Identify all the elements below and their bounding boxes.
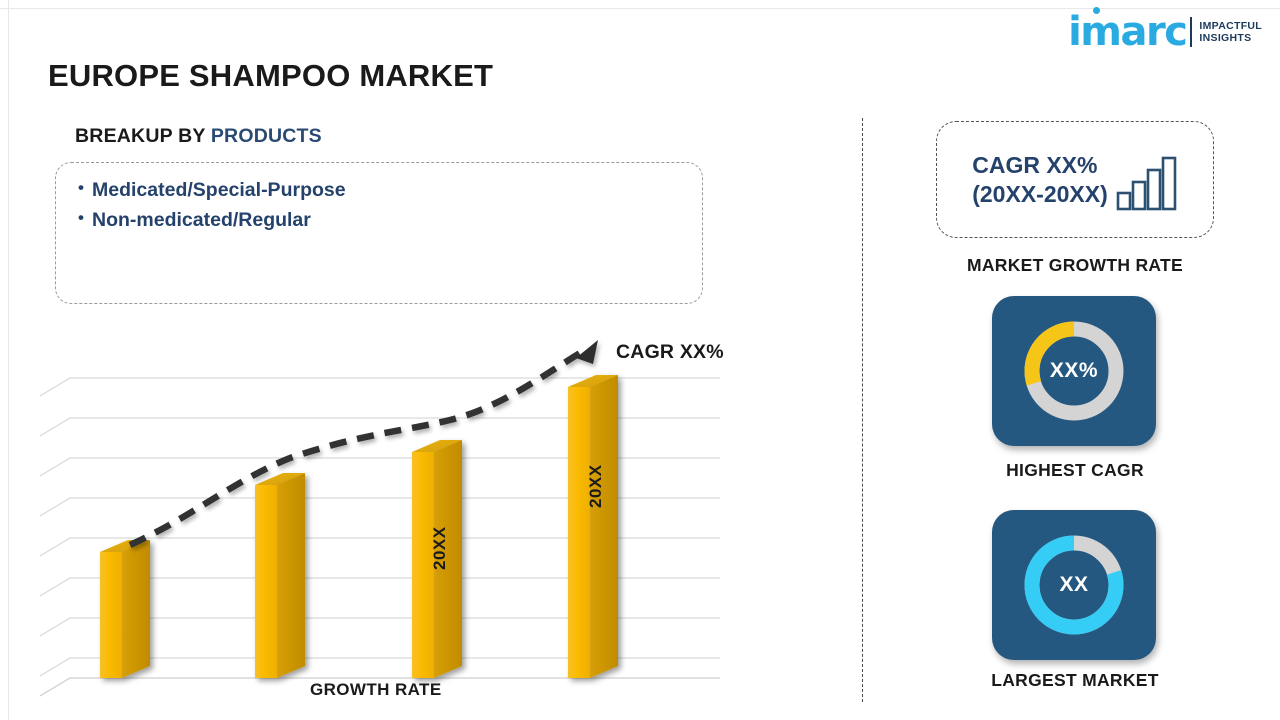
chart-cagr-label: CAGR XX%	[616, 341, 724, 364]
page-title: EUROPE SHAMPOO MARKET	[48, 58, 493, 94]
caption-highest-cagr: HIGHEST CAGR	[925, 460, 1225, 481]
chart-xlabel: GROWTH RATE	[310, 680, 442, 700]
logo-tagline-line2: INSIGHTS	[1199, 32, 1262, 44]
market-growth-box: CAGR XX% (20XX-20XX)	[936, 121, 1214, 238]
bar-column	[568, 375, 618, 678]
logo-divider	[1190, 17, 1192, 47]
imarc-logo: imarc IMPACTFUL INSIGHTS	[1068, 12, 1262, 52]
breakup-heading-key: PRODUCTS	[211, 125, 322, 147]
infographic-page: imarc IMPACTFUL INSIGHTS EUROPE SHAMPOO …	[0, 0, 1280, 720]
chart-canvas	[40, 330, 760, 700]
growth-bar-chart: 20XX 20XX	[40, 330, 760, 700]
logo-wordmark: imarc	[1068, 12, 1186, 52]
bar-column	[100, 540, 150, 678]
bar-chart-icon	[1116, 155, 1178, 211]
growth-box-line2: (20XX-20XX)	[972, 180, 1108, 208]
list-item: Non-medicated/Regular	[78, 206, 702, 236]
largest-market-tile: XX	[992, 510, 1156, 660]
highest-cagr-tile: XX%	[992, 296, 1156, 446]
frame-left-line	[8, 0, 9, 720]
growth-box-line1: CAGR XX%	[972, 151, 1108, 179]
trend-line	[130, 340, 598, 545]
breakup-heading-label: BREAKUP BY	[75, 125, 211, 147]
bar-year-label: 20XX	[586, 464, 606, 508]
donut-value-largest-market: XX	[992, 573, 1156, 597]
segments-box: Medicated/Special-Purpose Non-medicated/…	[55, 162, 703, 304]
caption-market-growth-rate: MARKET GROWTH RATE	[925, 255, 1225, 276]
list-item: Medicated/Special-Purpose	[78, 176, 702, 206]
growth-box-text: CAGR XX% (20XX-20XX)	[972, 151, 1108, 207]
bar-column	[255, 473, 305, 678]
segments-list: Medicated/Special-Purpose Non-medicated/…	[56, 163, 702, 235]
caption-largest-market: LARGEST MARKET	[925, 670, 1225, 691]
logo-tagline: IMPACTFUL INSIGHTS	[1199, 20, 1262, 44]
breakup-heading: BREAKUP BY PRODUCTS	[75, 125, 322, 148]
logo-tagline-line1: IMPACTFUL	[1199, 20, 1262, 32]
bar-year-label: 20XX	[430, 526, 450, 570]
trend-arrowhead	[576, 340, 598, 364]
donut-value-highest-cagr: XX%	[992, 359, 1156, 383]
vertical-divider	[862, 118, 863, 702]
